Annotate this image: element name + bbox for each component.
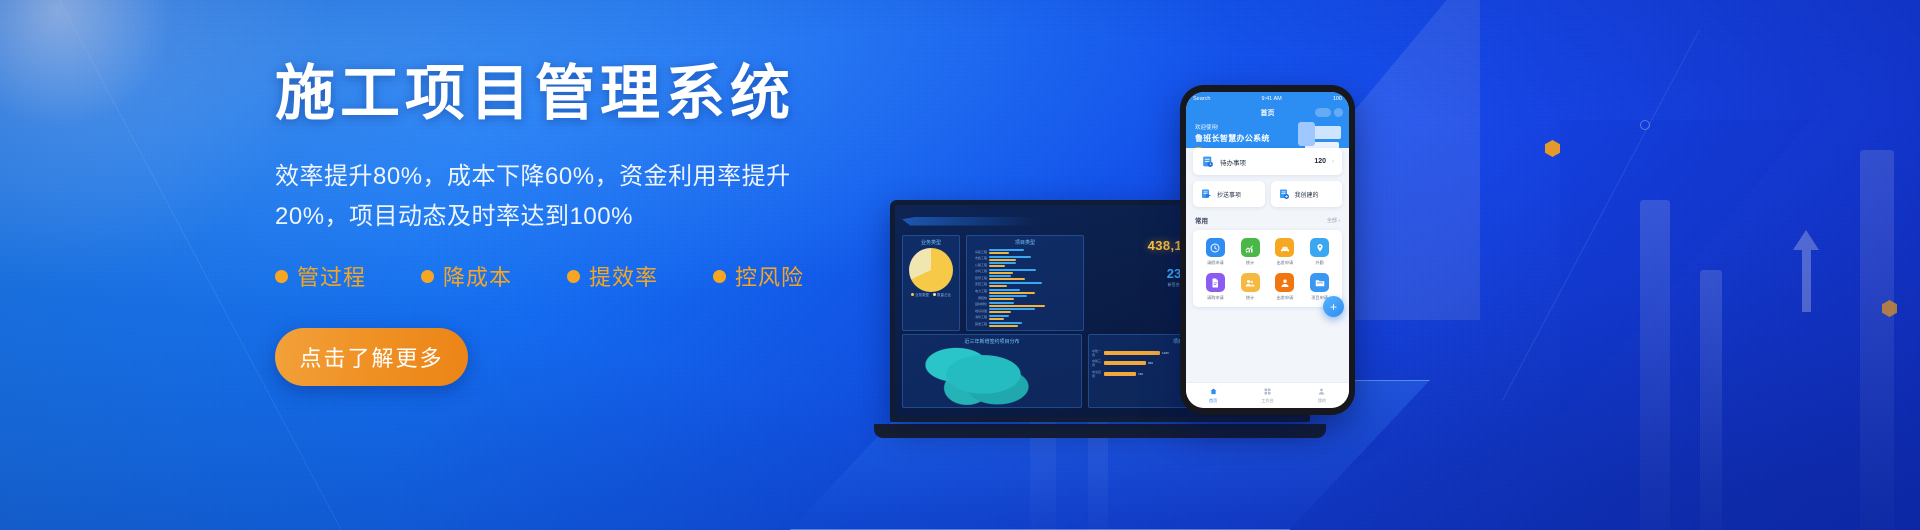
feature-bullets: 管过程 降成本 提效率 控风险 [275,260,895,292]
bar-series-b [989,318,1004,320]
bar-panel-title: 项目类型 [970,239,1080,246]
bar-series-a [989,308,1035,310]
bar-panel: 项目类型 房建工程市政工程公路工程水利工程装饰工程安装工程电力工程钢结构园林绿化… [966,235,1084,331]
feature-bullet-label: 管过程 [297,260,366,292]
bar-series-a [989,275,1011,277]
bar-series-a [989,249,1024,251]
bar-series-b [989,272,1013,274]
bullet-dot-icon [567,270,580,283]
bar-chart-row: 水利工程 [970,269,1080,274]
bar-series-a [989,289,1020,291]
bar-chart-row: 电力工程 [970,289,1080,294]
rank-value: 960 [1148,361,1153,365]
bar-series-a [989,302,1014,304]
rank-name: 中建一局 [1092,349,1102,357]
app-grid-label: 统计 [1246,260,1254,266]
bar-chart-row: 安装工程 [970,282,1080,287]
quick-action-card[interactable]: 抄送事项 [1193,181,1265,207]
close-icon[interactable] [1334,108,1343,117]
rank-value: 740 [1138,372,1143,376]
legend-item: 业务类型 [911,293,929,298]
bar-series-b [989,305,1045,307]
bar-row-label: 装饰工程 [970,276,987,280]
user-icon [1317,387,1326,396]
feature-bullet-label: 提效率 [589,260,658,292]
bg-arrow-2 [1793,230,1819,312]
bg-bar-5 [1860,150,1894,530]
promo-banner: 施工项目管理系统 效率提升80%，成本下降60%，资金利用率提升20%，项目动态… [0,0,1920,530]
quick-action-label: 抄送事项 [1217,190,1241,199]
bar-row-label: 市政工程 [970,256,987,260]
bar-series-b [989,285,1007,287]
phone-status-bar: Search 9:41 AM 100 [1186,92,1349,105]
bar-chart-row: 公路工程 [970,262,1080,267]
status-battery: 100 [1333,96,1342,102]
pin-icon[interactable] [1310,238,1329,257]
bar-chart-row: 市政工程 [970,256,1080,261]
bar-series-a [989,295,1027,297]
section-title: 常用 [1195,215,1208,225]
people-icon[interactable] [1241,273,1260,292]
nav-actions[interactable] [1315,108,1343,117]
rank-name: 中交四局 [1092,370,1102,378]
bar-chart-row: 消防工程 [970,315,1080,320]
bar-series-a [989,315,1009,317]
device-showcase: 市场管理报表 业务类型 业务类型 数量占比 [960,85,1660,515]
bullet-dot-icon [713,270,726,283]
phone-nav-bar: 首页 [1186,105,1349,120]
bar-series-a [989,282,1042,284]
rank-bar [1104,351,1160,355]
created-by-me-icon [1278,188,1290,200]
app-grid-label: 请购申请 [1207,295,1224,301]
folder-icon[interactable] [1310,273,1329,292]
legend-item: 数量占比 [933,293,951,298]
bar-chart-row: 钢结构 [970,295,1080,300]
feature-bullet: 控风险 [713,260,804,292]
bar-series-b [989,325,1018,327]
todo-count: 120 [1314,158,1326,165]
section-more-link[interactable]: 全部 › [1327,217,1340,224]
bar-series-b [989,298,1014,300]
bullet-dot-icon [421,270,434,283]
bar-series-a [989,269,1036,271]
feature-bullet: 提效率 [567,260,658,292]
bar-row-label: 电力工程 [970,289,987,293]
pie-panel: 业务类型 业务类型 数量占比 [902,235,960,331]
car-icon[interactable] [1275,238,1294,257]
chevron-right-icon: › [1332,159,1334,165]
home-icon [1209,387,1218,396]
map-panel: 近三年新增签约项目分布 [902,334,1082,408]
add-button[interactable]: + [1323,296,1344,317]
bar-series-b [989,311,1011,313]
phone-tab-bar: 首页工作台我的 [1186,382,1349,408]
tab-label: 首页 [1209,398,1217,404]
bar-row-label: 消防工程 [970,315,987,319]
bar-row-label: 钢结构 [970,296,987,300]
pie-chart [909,248,953,292]
feature-bullet: 降成本 [421,260,512,292]
clock-icon[interactable] [1206,238,1225,257]
phone-screen: Search 9:41 AM 100 首页 欢迎使用! 鲁班长智慧办公系统 [1186,92,1349,408]
rank-bar [1104,361,1146,365]
bar-row-label: 房建工程 [970,250,987,254]
app-grid: 请假申请统计出差申请外勤请购申请统计出差申请项目申请+ [1193,230,1342,307]
nav-title: 首页 [1261,108,1275,118]
chart-icon[interactable] [1241,238,1260,257]
bg-bar-4 [1700,270,1722,530]
tab-grid[interactable]: 工作台 [1240,387,1294,404]
app-grid-label: 请假申请 [1207,260,1224,266]
tab-home[interactable]: 首页 [1186,387,1240,404]
todo-label: 待办事项 [1220,157,1308,167]
bar-series-a [989,262,1016,264]
status-time: 9:41 AM [1262,96,1282,102]
bar-series-a [989,322,1022,324]
app-grid-label: 出差申请 [1276,295,1293,301]
pie-panel-title: 业务类型 [906,239,956,246]
forward-icon [1200,188,1212,200]
section-header: 常用 全部 › [1195,215,1340,225]
phone-body: 待办事项 120 › 抄送事项 [1186,148,1349,382]
bar-row-label: 园林绿化 [970,302,987,306]
quick-actions: 抄送事项 我创建的 [1193,181,1342,207]
tab-user[interactable]: 我的 [1295,387,1349,404]
tab-label: 工作台 [1261,398,1274,404]
bar-row-label: 安装工程 [970,282,987,286]
quick-action-label: 我创建的 [1295,190,1319,199]
document-icon[interactable] [1206,273,1225,292]
laptop-base [874,424,1326,438]
person-icon[interactable] [1275,273,1294,292]
status-carrier: Search [1193,96,1210,102]
app-grid-label: 外勤 [1315,260,1323,266]
app-grid-label: 出差申请 [1276,260,1293,266]
feature-bullet-label: 降成本 [443,260,512,292]
tab-label: 我的 [1318,398,1326,404]
app-grid-item[interactable]: 出差申请 [1268,238,1303,266]
grid-icon [1263,387,1272,396]
todo-icon [1201,155,1214,168]
feature-bullet-label: 控风险 [735,260,804,292]
rank-name: 中铁三局 [1092,359,1102,367]
page-title: 施工项目管理系统 [275,60,895,127]
pie-legend: 业务类型 数量占比 [906,293,956,298]
app-grid-item[interactable]: 统计 [1233,238,1268,266]
bg-hexagon-3 [1882,300,1897,317]
china-map [915,339,1033,407]
bar-series-b [989,265,1005,267]
quick-action-card[interactable]: 我创建的 [1271,181,1343,207]
bar-chart-row: 其他工程 [970,322,1080,327]
bar-series-b [989,292,1035,294]
bar-chart-row: 装饰工程 [970,275,1080,280]
app-grid-item[interactable]: 外勤 [1302,238,1337,266]
bar-row-label: 公路工程 [970,263,987,267]
bar-series-b [989,252,1009,254]
app-grid-item[interactable]: 统计 [1233,273,1268,301]
app-grid-item[interactable]: 出差申请 [1268,273,1303,301]
bar-series-a [989,256,1031,258]
bar-chart-row: 园林绿化 [970,302,1080,307]
page-subtitle: 效率提升80%，成本下降60%，资金利用率提升20%，项目动态及时率达到100% [275,157,795,236]
rank-value: 1280 [1162,351,1169,355]
more-icon[interactable] [1315,108,1331,117]
learn-more-button[interactable]: 点击了解更多 [275,328,468,386]
bar-row-label: 其他工程 [970,322,987,326]
rank-bar [1104,372,1136,376]
bar-series-b [989,259,1016,261]
header-decoration [902,217,1037,226]
bar-chart: 房建工程市政工程公路工程水利工程装饰工程安装工程电力工程钢结构园林绿化地基基础消… [970,248,1080,327]
bar-row-label: 水利工程 [970,269,987,273]
todo-card[interactable]: 待办事项 120 › [1193,148,1342,175]
banner-content: 施工项目管理系统 效率提升80%，成本下降60%，资金利用率提升20%，项目动态… [275,60,895,386]
bar-chart-row: 房建工程 [970,249,1080,254]
feature-bullet: 管过程 [275,260,366,292]
bar-chart-row: 地基基础 [970,308,1080,313]
app-grid-item[interactable]: 请购申请 [1198,273,1233,301]
bullet-dot-icon [275,270,288,283]
phone-mockup: Search 9:41 AM 100 首页 欢迎使用! 鲁班长智慧办公系统 [1180,85,1355,415]
bar-row-label: 地基基础 [970,309,987,313]
app-grid-label: 统计 [1246,295,1254,301]
app-grid-item[interactable]: 请假申请 [1198,238,1233,266]
bar-series-b [989,278,1025,280]
